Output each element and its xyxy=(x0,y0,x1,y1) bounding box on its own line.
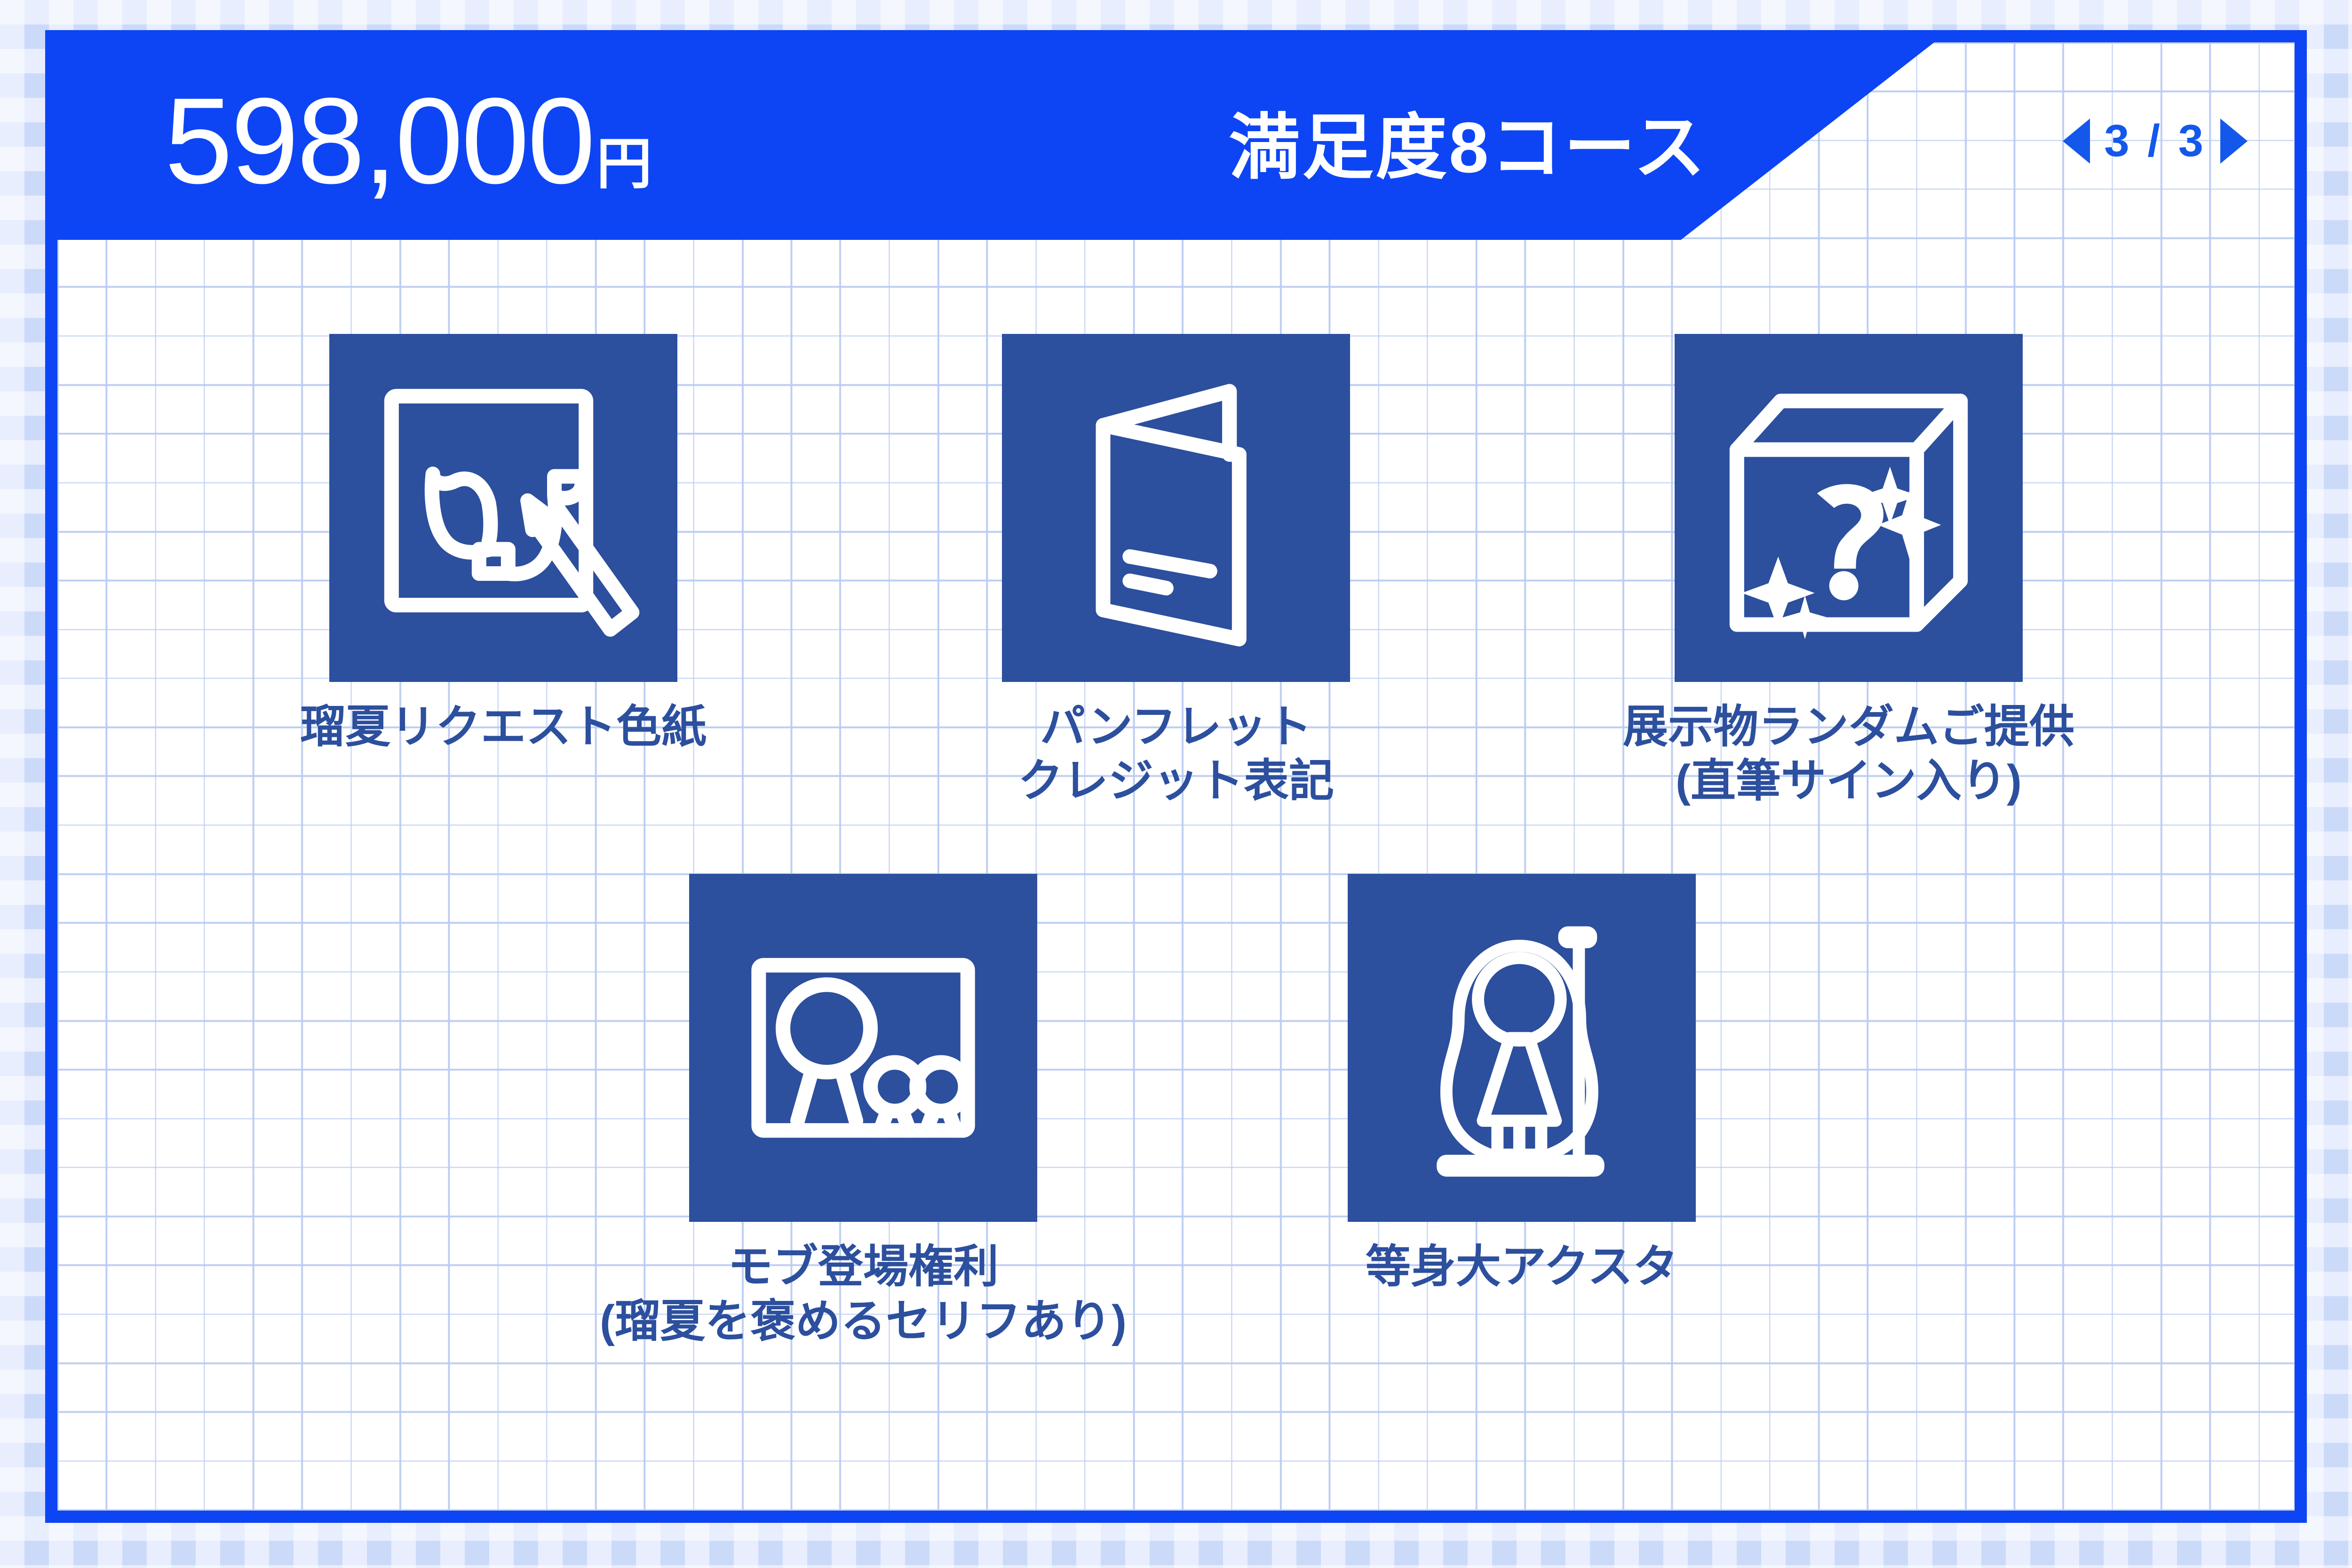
perk-label-line2: クレジット表記 xyxy=(1018,754,1334,808)
header-inner: 598,000 円 満足度8コース xyxy=(57,42,1934,240)
perk-item[interactable]: 瑠夏リクエスト色紙 xyxy=(259,334,748,754)
page-indicator: 3 / 3 xyxy=(2063,115,2248,167)
perk-row-bottom: モブ登場権利 (瑠夏を褒めるセリフあり) xyxy=(57,808,2295,1348)
price-currency-unit: 円 xyxy=(596,136,652,192)
pamphlet-icon xyxy=(1002,334,1350,682)
perk-label: 展示物ランダムご提供 (直筆サイン入り) xyxy=(1623,700,2074,808)
price-block: 598,000 円 xyxy=(165,80,652,202)
mystery-box-icon xyxy=(1675,334,2023,682)
perk-row-top: 瑠夏リクエスト色紙 パンフレッ xyxy=(57,245,2295,808)
perk-label: 瑠夏リクエスト色紙 xyxy=(300,700,707,754)
perk-label: モブ登場権利 (瑠夏を褒めるセリフあり) xyxy=(600,1240,1127,1348)
perk-label-line1: 瑠夏リクエスト色紙 xyxy=(300,702,707,752)
triangle-left-icon[interactable] xyxy=(2063,119,2090,164)
perk-item[interactable]: パンフレット クレジット表記 xyxy=(964,334,1388,808)
perk-label-line1: パンフレット xyxy=(1040,702,1312,752)
perk-label-line1: 展示物ランダムご提供 xyxy=(1623,702,2074,752)
life-size-acrylic-stand-icon xyxy=(1348,874,1696,1222)
course-title: 満足度8コース xyxy=(1229,89,1707,193)
perk-label-line2: (直筆サイン入り) xyxy=(1623,754,2074,808)
perk-grid: 瑠夏リクエスト色紙 パンフレッ xyxy=(57,245,2295,1511)
card-header: 598,000 円 満足度8コース xyxy=(57,42,1934,240)
perk-label-line1: 等身大アクスタ xyxy=(1366,1242,1678,1292)
triangle-right-icon[interactable] xyxy=(2220,119,2248,164)
perk-label-line2: (瑠夏を褒めるセリフあり) xyxy=(600,1294,1127,1348)
price-amount: 598,000 xyxy=(165,80,594,202)
perk-item[interactable]: 展示物ランダムご提供 (直筆サイン入り) xyxy=(1604,334,2093,808)
perk-item[interactable]: モブ登場権利 (瑠夏を褒めるセリフあり) xyxy=(619,874,1108,1348)
page-backdrop: 598,000 円 満足度8コース 3 / 3 xyxy=(0,0,2352,1568)
shikishi-brush-icon xyxy=(329,334,677,682)
perk-item[interactable]: 等身大アクスタ xyxy=(1310,874,1733,1294)
perk-label: 等身大アクスタ xyxy=(1366,1240,1678,1294)
perk-label-line1: モブ登場権利 xyxy=(728,1242,999,1292)
page-counter-label: 3 / 3 xyxy=(2104,115,2206,167)
course-card: 598,000 円 満足度8コース 3 / 3 xyxy=(45,30,2307,1523)
mob-appearance-icon xyxy=(689,874,1037,1222)
perk-label: パンフレット クレジット表記 xyxy=(1018,700,1334,808)
